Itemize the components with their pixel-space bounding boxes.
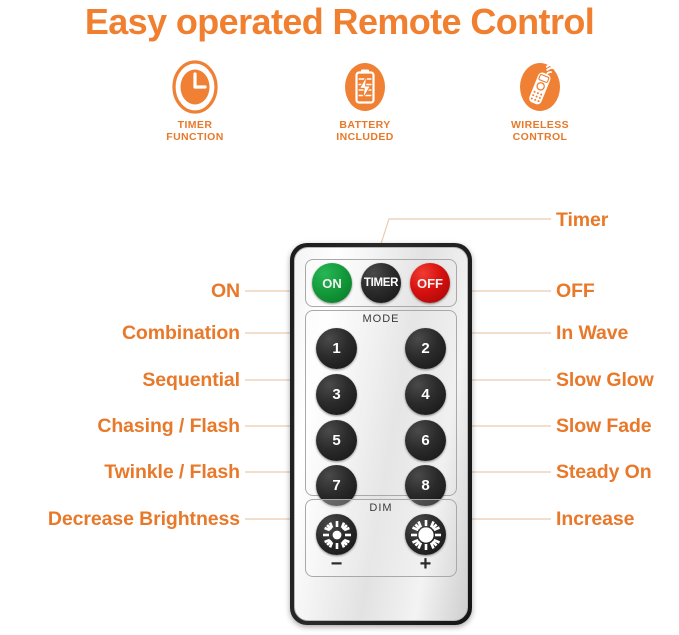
mode-button-3[interactable]: 3: [316, 374, 357, 415]
dim-button-panel: DIM: [305, 499, 457, 577]
mode-button-label: 4: [421, 386, 429, 403]
callout-in-wave: In Wave: [556, 323, 628, 343]
mode-button-label: 2: [421, 340, 429, 357]
decrease-sign: −: [316, 555, 357, 573]
callout-off: OFF: [556, 281, 595, 301]
remote-faceplate: ON TIMER OFF MODE 1 2 3 4 5 6 7 8: [294, 247, 468, 621]
feature-caption: BATTERY INCLUDED: [295, 119, 435, 143]
mode-button-label: 6: [421, 432, 429, 449]
callout-decrease-brightness: Decrease Brightness: [48, 509, 240, 529]
clock-icon: [172, 60, 218, 114]
off-button[interactable]: OFF: [410, 263, 450, 303]
feature-timer-function: TIMER FUNCTION: [125, 60, 265, 143]
increase-brightness-button[interactable]: [405, 514, 446, 555]
power-button-panel: ON TIMER OFF: [305, 259, 457, 307]
mode-button-label: 1: [332, 340, 340, 357]
callout-slow-glow: Slow Glow: [556, 370, 654, 390]
mode-button-2[interactable]: 2: [405, 328, 446, 369]
remote-control-device: ON TIMER OFF MODE 1 2 3 4 5 6 7 8: [290, 243, 472, 625]
mode-button-label: 7: [332, 477, 340, 494]
feature-battery-included: BATTERY INCLUDED: [295, 60, 435, 143]
feature-wireless-control: WIRELESS CONTROL: [470, 60, 610, 143]
callout-chasing-flash: Chasing / Flash: [97, 416, 240, 436]
feature-caption: WIRELESS CONTROL: [470, 119, 610, 143]
callout-steady-on: Steady On: [556, 462, 652, 482]
feature-badges: TIMER FUNCTION BATTERY INCLUDED: [0, 60, 679, 155]
timer-button[interactable]: TIMER: [361, 263, 401, 303]
callout-timer: Timer: [556, 210, 608, 230]
off-button-label: OFF: [417, 276, 443, 291]
battery-icon: [342, 60, 388, 114]
callout-slow-fade: Slow Fade: [556, 416, 652, 436]
sun-small-icon: [320, 518, 354, 552]
mode-button-1[interactable]: 1: [316, 328, 357, 369]
mode-panel-caption: MODE: [306, 313, 456, 325]
mode-button-label: 8: [421, 477, 429, 494]
feature-caption: TIMER FUNCTION: [125, 119, 265, 143]
mode-button-4[interactable]: 4: [405, 374, 446, 415]
callout-combination: Combination: [122, 323, 240, 343]
timer-button-label: TIMER: [364, 277, 398, 289]
callout-on: ON: [211, 281, 240, 301]
callout-twinkle-flash: Twinkle / Flash: [104, 462, 240, 482]
mode-button-label: 5: [332, 432, 340, 449]
remote-control-icon: [517, 60, 563, 114]
increase-sign: +: [405, 555, 446, 573]
callout-sequential: Sequential: [142, 370, 240, 390]
callout-increase: Increase: [556, 509, 634, 529]
page-title: Easy operated Remote Control: [0, 1, 679, 43]
mode-button-6[interactable]: 6: [405, 420, 446, 461]
decrease-brightness-button[interactable]: [316, 514, 357, 555]
mode-button-5[interactable]: 5: [316, 420, 357, 461]
on-button-label: ON: [322, 276, 342, 291]
dim-panel-caption: DIM: [306, 502, 456, 514]
on-button[interactable]: ON: [312, 263, 352, 303]
mode-button-label: 3: [332, 386, 340, 403]
mode-button-panel: MODE 1 2 3 4 5 6 7 8: [305, 310, 457, 496]
sun-large-icon: [409, 518, 443, 552]
product-infographic: Easy operated Remote Control TIMER FUNCT…: [0, 0, 679, 635]
